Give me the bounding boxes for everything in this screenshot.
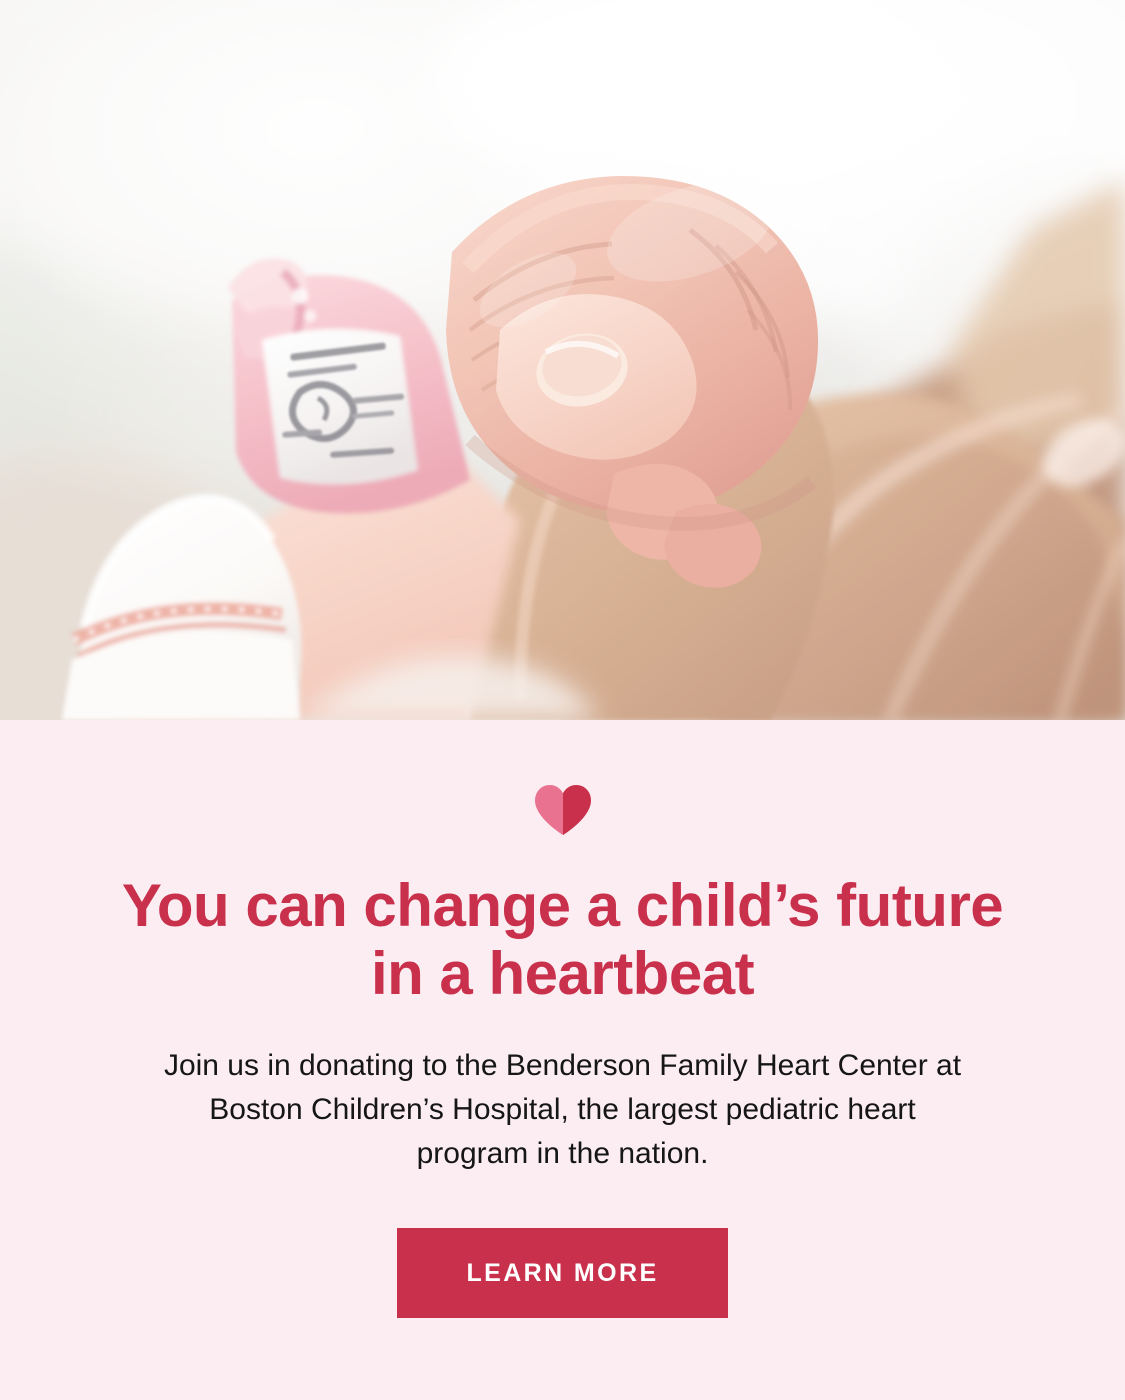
cta-container: LEARN MORE — [0, 1228, 1125, 1318]
page-title: You can change a child’s future in a hea… — [0, 872, 1125, 1008]
body-copy: Join us in donating to the Benderson Fam… — [0, 1044, 1125, 1176]
learn-more-button[interactable]: LEARN MORE — [397, 1228, 728, 1318]
hero-photo — [0, 0, 1125, 720]
newborn-hand-photo — [0, 0, 1125, 720]
message-panel: You can change a child’s future in a hea… — [0, 720, 1125, 1400]
donation-promo-card: You can change a child’s future in a hea… — [0, 0, 1125, 1400]
heart-icon — [533, 784, 593, 836]
